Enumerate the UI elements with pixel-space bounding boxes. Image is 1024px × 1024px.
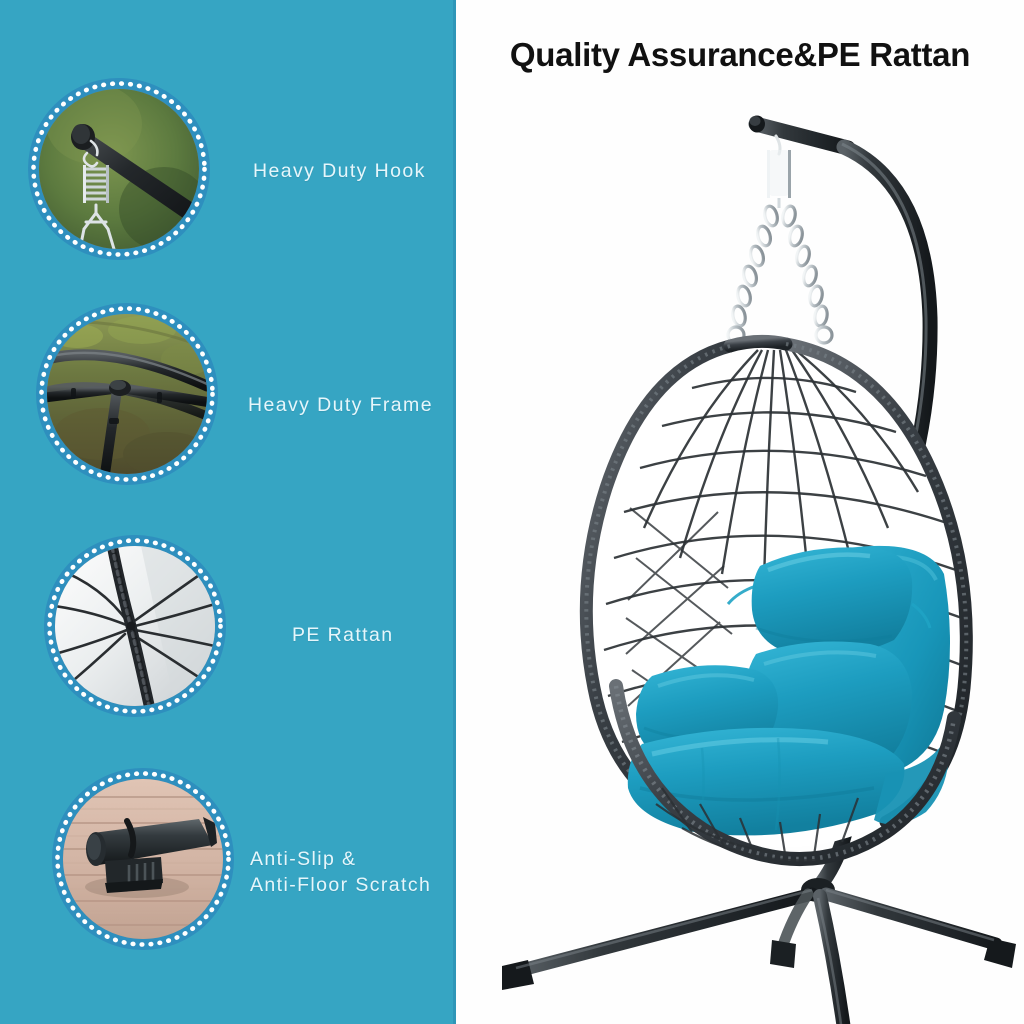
feature-label-anti-slip: Anti-Slip & Anti-Floor Scratch — [250, 846, 431, 898]
features-panel: Heavy Duty Hook — [0, 0, 453, 1024]
photo-pe-rattan — [55, 546, 215, 706]
feature-label-pe-rattan: PE Rattan — [292, 622, 393, 648]
product-panel: Quality Assurance&PE Rattan — [456, 0, 1024, 1024]
feature-circle-heavy-duty-frame — [36, 303, 218, 485]
feature-circle-pe-rattan — [44, 535, 226, 717]
product-image — [456, 88, 1024, 1024]
infographic-page: Heavy Duty Hook — [0, 0, 1024, 1024]
feature-label-heavy-duty-frame: Heavy Duty Frame — [248, 392, 433, 418]
feature-item-anti-slip[interactable]: Anti-Slip & Anti-Floor Scratch — [0, 0, 453, 215]
feature-circle-anti-slip — [52, 768, 234, 950]
photo-anti-slip — [63, 779, 223, 939]
page-title: Quality Assurance&PE Rattan — [456, 36, 1024, 74]
photo-heavy-duty-frame — [47, 314, 207, 474]
